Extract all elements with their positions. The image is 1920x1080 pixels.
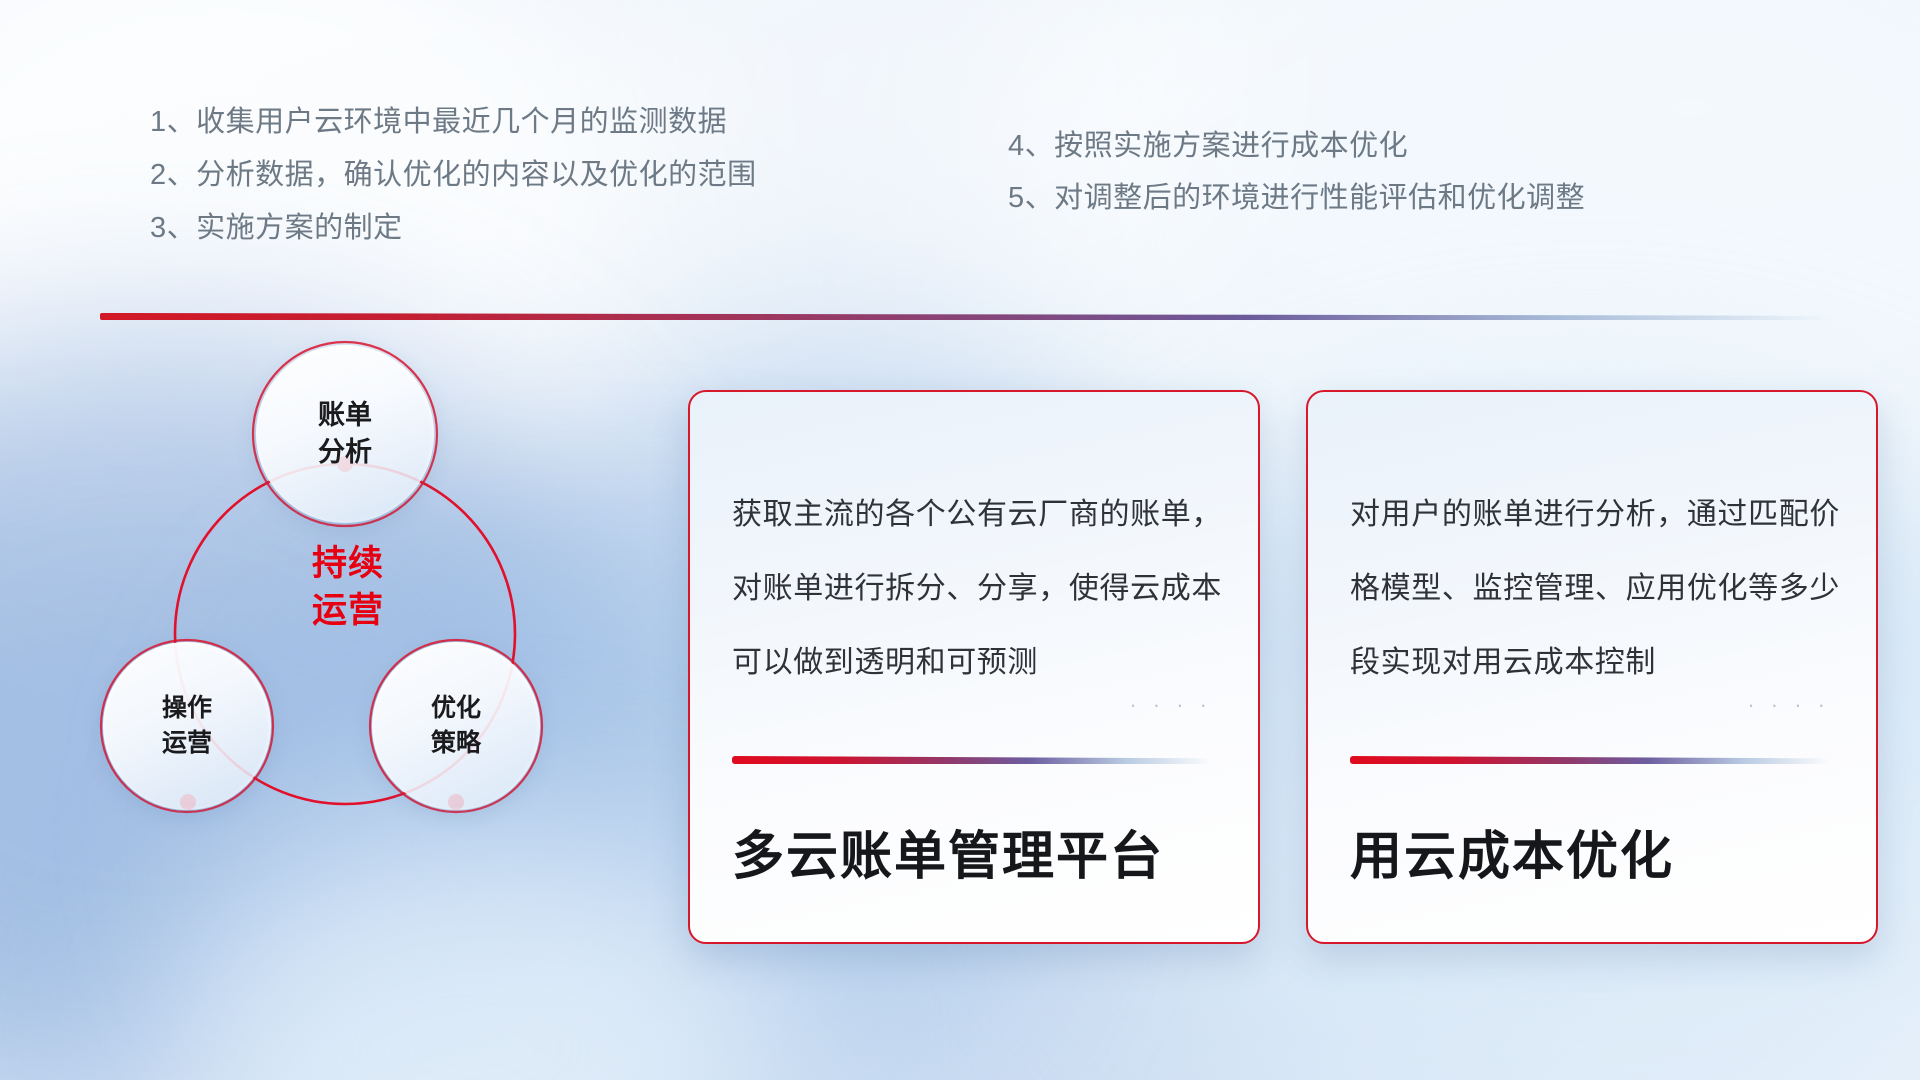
step-item: 5、对调整后的环境进行性能评估和优化调整 [1008, 172, 1585, 224]
bubble-label: 账单分析 [318, 397, 372, 471]
bubble-optimization-strategy[interactable]: 优化策略 [372, 642, 540, 810]
card-cloud-cost-optimization[interactable]: 对用户的账单进行分析，通过匹配价格模型、监控管理、应用优化等多少段实现对用云成本… [1306, 390, 1878, 944]
steps-list-right: 4、按照实施方案进行成本优化 5、对调整后的环境进行性能评估和优化调整 [1008, 120, 1585, 224]
bubble-label: 优化策略 [431, 691, 481, 761]
diagram-center-label: 持续 运营 [264, 540, 432, 634]
step-item: 1、收集用户云环境中最近几个月的监测数据 [150, 96, 757, 149]
card-body-text: 对用户的账单进行分析，通过匹配价格模型、监控管理、应用优化等多少段实现对用云成本… [1350, 478, 1840, 700]
card-decoration-dots: · · · · [1747, 692, 1830, 718]
bubble-label: 操作运营 [162, 691, 212, 761]
card-title: 多云账单管理平台 [732, 814, 1164, 889]
card-divider-rule [1350, 756, 1830, 764]
continuous-operation-diagram: 账单分析 操作运营 优化策略 持续 运营 [96, 352, 616, 912]
bubble-bill-analysis[interactable]: 账单分析 [256, 345, 434, 523]
step-item: 3、实施方案的制定 [150, 202, 757, 255]
card-divider-rule [732, 756, 1212, 764]
slide-canvas: 1、收集用户云环境中最近几个月的监测数据 2、分析数据，确认优化的内容以及优化的… [0, 0, 1920, 1080]
steps-list-left: 1、收集用户云环境中最近几个月的监测数据 2、分析数据，确认优化的内容以及优化的… [150, 96, 757, 255]
card-decoration-dots: · · · · [1129, 692, 1212, 718]
card-title: 用云成本优化 [1350, 814, 1674, 889]
card-body-text: 获取主流的各个公有云厂商的账单，对账单进行拆分、分享，使得云成本可以做到透明和可… [732, 478, 1222, 700]
center-label-line-1: 持续 [264, 540, 432, 587]
step-item: 4、按照实施方案进行成本优化 [1008, 120, 1585, 172]
step-item: 2、分析数据，确认优化的内容以及优化的范围 [150, 149, 757, 202]
center-label-line-2: 运营 [264, 587, 432, 634]
bubble-operation-ops[interactable]: 操作运营 [103, 642, 271, 810]
card-multi-cloud-billing-platform[interactable]: 获取主流的各个公有云厂商的账单，对账单进行拆分、分享，使得云成本可以做到透明和可… [688, 390, 1260, 944]
